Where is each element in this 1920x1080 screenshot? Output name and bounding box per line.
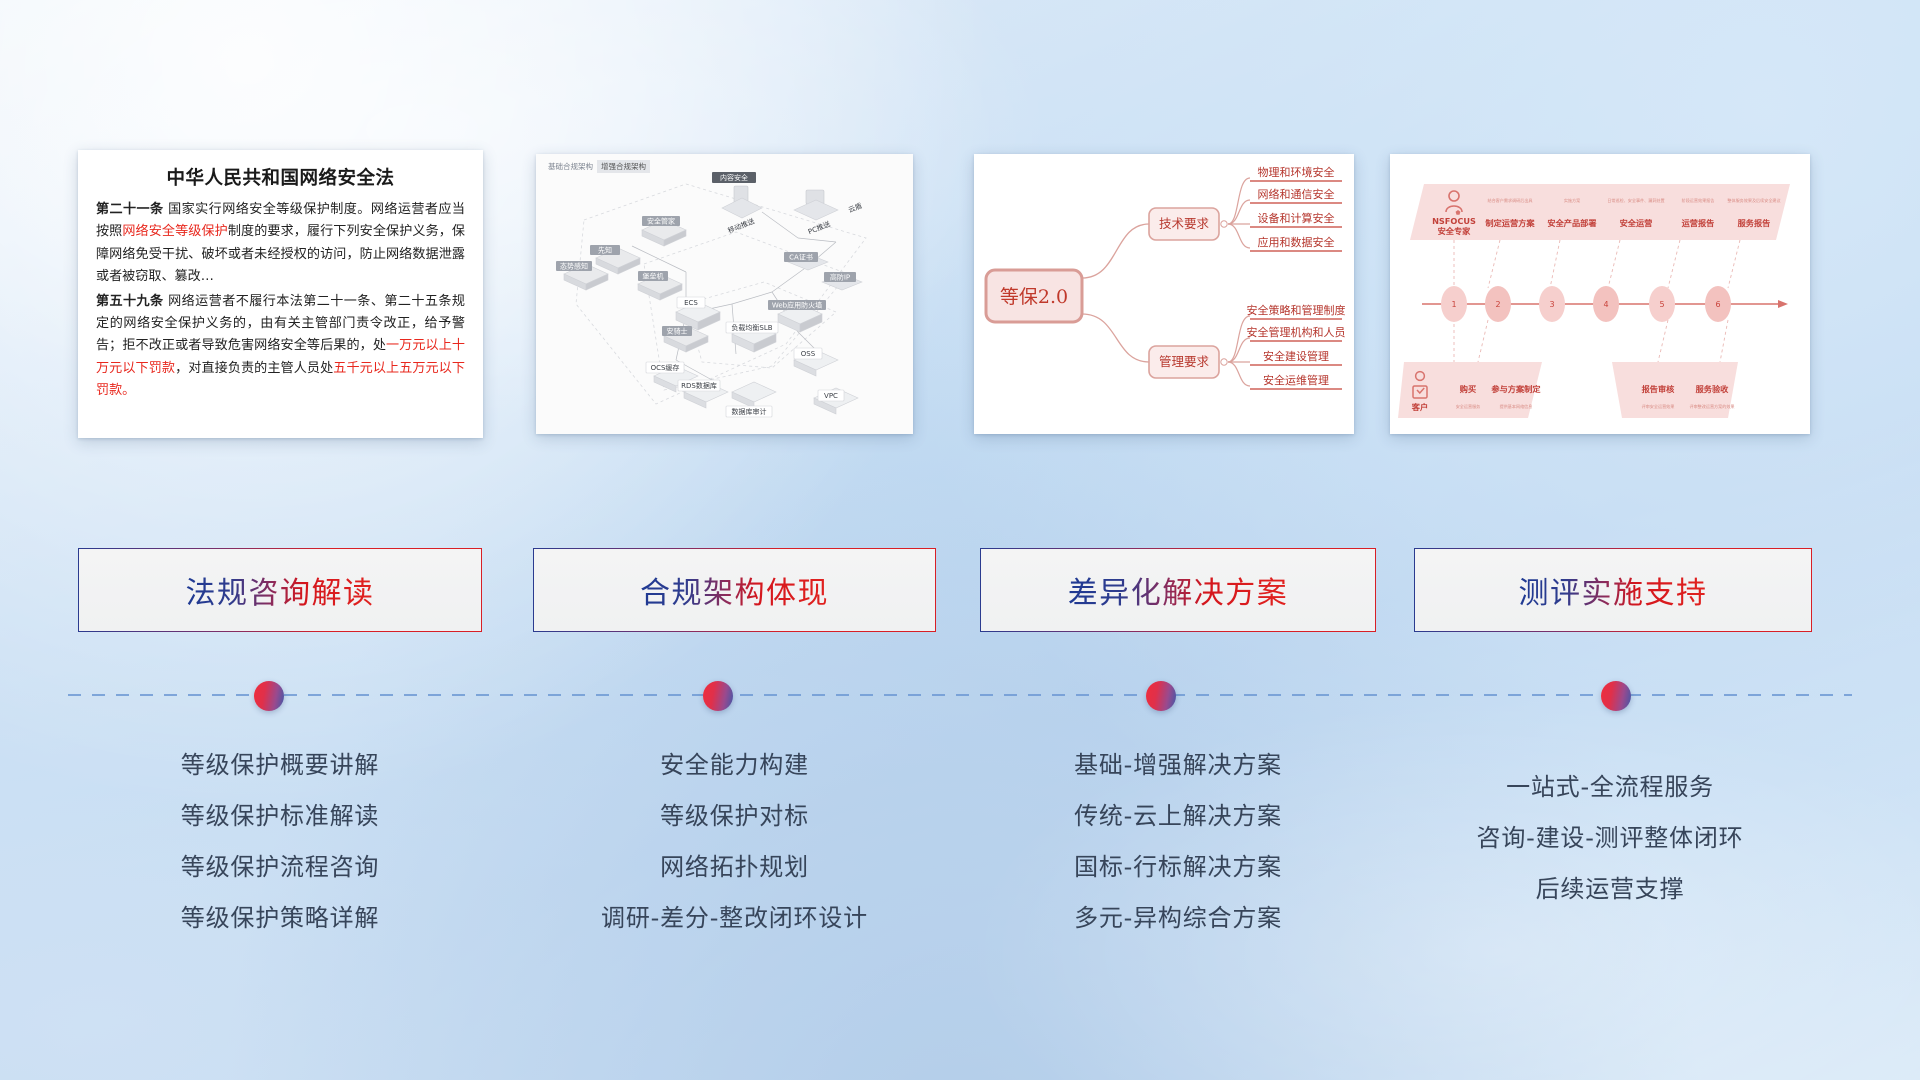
list-item: 一站式-全流程服务 bbox=[1400, 762, 1820, 813]
timeline-number-4: 4 bbox=[1603, 300, 1608, 309]
list-item: 后续运营支撑 bbox=[1400, 864, 1820, 915]
mindmap-leaf-m2: 安全管理机构和人员 bbox=[1247, 325, 1346, 339]
bottom-sub-3: 评审安全运营效果 bbox=[1642, 403, 1675, 409]
svg-text:VPC: VPC bbox=[824, 392, 838, 400]
law-article-59-label: 第五十九条 bbox=[96, 294, 164, 309]
section-items-2: 安全能力构建 等级保护对标 网络拓扑规划 调研-差分-整改闭环设计 bbox=[533, 740, 936, 944]
mindmap-leaf-t1: 物理和环境安全 bbox=[1258, 165, 1335, 179]
svg-text:安骑士: 安骑士 bbox=[667, 327, 688, 336]
timeline-number-1: 1 bbox=[1451, 300, 1456, 309]
mindmap-leaf-t2: 网络和通信安全 bbox=[1258, 187, 1335, 201]
section-title-1: 法规咨询解读 bbox=[186, 568, 375, 612]
mindmap-branch-management-label: 管理要求 bbox=[1159, 354, 1210, 369]
svg-text:态势感知: 态势感知 bbox=[560, 262, 588, 271]
top-sub-2: 实施方案 bbox=[1564, 197, 1580, 203]
svg-text:先知: 先知 bbox=[598, 246, 612, 255]
node-pc-push bbox=[794, 190, 838, 220]
timeline-dot-2[interactable] bbox=[703, 681, 733, 711]
mindmap-svg: 等保2.0 技术要求 bbox=[974, 154, 1354, 434]
card-compliance-architecture[interactable]: 基础合规架构增强合规架构 bbox=[536, 154, 913, 434]
expert-label-line2: 安全专家 bbox=[1438, 226, 1472, 236]
section-title-2: 合规架构体现 bbox=[640, 568, 829, 612]
service-timeline: NSFOCUS 安全专家 结合客户需求调研后出具 制定运营方案 实施方案 安全产… bbox=[1390, 154, 1810, 434]
timeline-dashed-axis bbox=[68, 694, 1852, 696]
svg-text:CA证书: CA证书 bbox=[789, 253, 813, 262]
bottom-title-2: 参与方案制定 bbox=[1491, 384, 1541, 394]
node-database-audit bbox=[732, 382, 776, 408]
bottom-title-1: 购买 bbox=[1459, 384, 1476, 394]
top-sub-4: 阶段运营效果报告 bbox=[1682, 197, 1715, 203]
timeline-number-6: 6 bbox=[1715, 300, 1720, 309]
top-sub-3: 日常巡检、安全事件、漏洞处置 bbox=[1607, 197, 1664, 203]
mindmap-root: 等保2.0 bbox=[986, 270, 1082, 322]
svg-text:RDS数据库: RDS数据库 bbox=[681, 381, 717, 390]
customer-label: 客户 bbox=[1411, 402, 1428, 412]
list-item: 调研-差分-整改闭环设计 bbox=[533, 893, 936, 944]
node-mobile-push bbox=[722, 186, 762, 218]
list-item: 多元-异构综合方案 bbox=[980, 893, 1376, 944]
list-item: 等级保护策略详解 bbox=[78, 893, 482, 944]
mindmap-leaf-t3: 设备和计算安全 bbox=[1258, 211, 1335, 225]
card-row: 中华人民共和国网络安全法 第二十一条 国家实行网络安全等级保护制度。网络运营者应… bbox=[0, 150, 1920, 450]
law-title: 中华人民共和国网络安全法 bbox=[96, 164, 465, 190]
section-title-row: 法规咨询解读 合规架构体现 差异化解决方案 测评实施支持 bbox=[0, 548, 1920, 634]
svg-text:安全管家: 安全管家 bbox=[647, 217, 675, 226]
bottom-sub-1: 安全运营服务 bbox=[1456, 403, 1481, 409]
bottom-sub-4: 评审整改运营方案的效果 bbox=[1689, 403, 1734, 409]
section-title-box-3[interactable]: 差异化解决方案 bbox=[980, 548, 1376, 632]
list-item: 安全能力构建 bbox=[533, 740, 936, 791]
card-cybersecurity-law[interactable]: 中华人民共和国网络安全法 第二十一条 国家实行网络安全等级保护制度。网络运营者应… bbox=[78, 150, 483, 438]
mindmap: 等保2.0 技术要求 bbox=[974, 154, 1354, 434]
top-sub-1: 结合客户需求调研后出具 bbox=[1487, 197, 1532, 203]
section-title-box-4[interactable]: 测评实施支持 bbox=[1414, 548, 1812, 632]
bottom-title-3: 报告审核 bbox=[1642, 384, 1676, 394]
mindmap-root-label: 等保2.0 bbox=[1000, 286, 1068, 308]
section-title-3: 差异化解决方案 bbox=[1068, 568, 1289, 612]
card-mindmap-dengbao[interactable]: 等保2.0 技术要求 bbox=[974, 154, 1354, 434]
top-title-3: 安全运营 bbox=[1620, 218, 1653, 228]
law-article-21-label: 第二十一条 bbox=[96, 202, 164, 217]
list-item: 网络拓扑规划 bbox=[533, 842, 936, 893]
timeline-dot-4[interactable] bbox=[1601, 681, 1631, 711]
list-item: 等级保护对标 bbox=[533, 791, 936, 842]
section-title-box-1[interactable]: 法规咨询解读 bbox=[78, 548, 482, 632]
svg-text:ECS: ECS bbox=[684, 299, 698, 307]
top-title-4: 运营报告 bbox=[1682, 218, 1715, 228]
list-item: 等级保护概要讲解 bbox=[78, 740, 482, 791]
section-items-1: 等级保护概要讲解 等级保护标准解读 等级保护流程咨询 等级保护策略详解 bbox=[78, 740, 482, 944]
section-title-4: 测评实施支持 bbox=[1519, 568, 1708, 612]
law-body: 中华人民共和国网络安全法 第二十一条 国家实行网络安全等级保护制度。网络运营者应… bbox=[78, 150, 483, 438]
svg-text:Web应用防火墙: Web应用防火墙 bbox=[772, 301, 822, 310]
service-timeline-svg: NSFOCUS 安全专家 结合客户需求调研后出具 制定运营方案 实施方案 安全产… bbox=[1390, 154, 1810, 434]
svg-text:数据库审计: 数据库审计 bbox=[732, 407, 767, 416]
section-items-3: 基础-增强解决方案 传统-云上解决方案 国标-行标解决方案 多元-异构综合方案 bbox=[980, 740, 1376, 944]
timeline-dot-3[interactable] bbox=[1146, 681, 1176, 711]
law-article-59-text-b: ，对直接负责的主管人员处 bbox=[175, 361, 333, 376]
section-item-lists: 等级保护概要讲解 等级保护标准解读 等级保护流程咨询 等级保护策略详解 安全能力… bbox=[0, 740, 1920, 1040]
top-title-1: 制定运营方案 bbox=[1485, 218, 1535, 228]
svg-text:PC推送: PC推送 bbox=[807, 219, 832, 236]
card-service-timeline[interactable]: NSFOCUS 安全专家 结合客户需求调研后出具 制定运营方案 实施方案 安全产… bbox=[1390, 154, 1810, 434]
svg-text:高防IP: 高防IP bbox=[830, 273, 850, 282]
timeline-arrow bbox=[1778, 300, 1788, 308]
mindmap-branch-management: 管理要求 bbox=[1149, 303, 1346, 389]
mindmap-leaf-m4: 安全运维管理 bbox=[1263, 373, 1329, 387]
timeline-number-3: 3 bbox=[1549, 300, 1554, 309]
list-item: 等级保护流程咨询 bbox=[78, 842, 482, 893]
expert-label-line1: NSFOCUS bbox=[1432, 216, 1476, 226]
mindmap-branch-technical: 技术要求 bbox=[1149, 165, 1342, 251]
bottom-title-4: 服务验收 bbox=[1696, 384, 1730, 394]
law-article-59: 第五十九条 网络运营者不履行本法第二十一条、第二十五条规定的网络安全保护义务的，… bbox=[96, 291, 465, 403]
law-article-21-highlight: 网络安全等级保护 bbox=[122, 224, 227, 239]
list-item: 国标-行标解决方案 bbox=[980, 842, 1376, 893]
section-items-4: 一站式-全流程服务 咨询-建设-测评整体闭环 后续运营支撑 bbox=[1400, 762, 1820, 915]
svg-text:OSS: OSS bbox=[801, 350, 816, 358]
svg-text:堡垒机: 堡垒机 bbox=[643, 272, 664, 281]
bottom-sub-2: 提供基本网络信息 bbox=[1500, 403, 1533, 409]
svg-text:内容安全: 内容安全 bbox=[720, 173, 748, 182]
list-item: 传统-云上解决方案 bbox=[980, 791, 1376, 842]
mindmap-leaf-m3: 安全建设管理 bbox=[1263, 349, 1329, 363]
list-item: 等级保护标准解读 bbox=[78, 791, 482, 842]
timeline-number-2: 2 bbox=[1495, 300, 1500, 309]
architecture-svg: 态势感知 先知 安全管家 堡垒机 ECS 安骑士 OCS缓存 bbox=[536, 154, 913, 434]
mindmap-branch-technical-label: 技术要求 bbox=[1159, 216, 1210, 231]
top-title-2: 安全产品部署 bbox=[1547, 218, 1596, 228]
list-item: 咨询-建设-测评整体闭环 bbox=[1400, 813, 1820, 864]
timeline-number-5: 5 bbox=[1659, 300, 1664, 309]
list-item: 基础-增强解决方案 bbox=[980, 740, 1376, 791]
svg-text:OCS缓存: OCS缓存 bbox=[651, 363, 680, 372]
svg-text:移动推送: 移动推送 bbox=[726, 216, 755, 235]
timeline-dot-1[interactable] bbox=[254, 681, 284, 711]
section-title-box-2[interactable]: 合规架构体现 bbox=[533, 548, 936, 632]
svg-text:云盾: 云盾 bbox=[847, 202, 863, 215]
architecture-diagram: 基础合规架构增强合规架构 bbox=[536, 154, 913, 434]
top-sub-5: 整体服务效果及后续安全建议 bbox=[1727, 197, 1780, 203]
mindmap-leaf-t4: 应用和数据安全 bbox=[1258, 235, 1335, 249]
svg-text:负载均衡SLB: 负载均衡SLB bbox=[731, 323, 772, 332]
mindmap-leaf-m1: 安全策略和管理制度 bbox=[1247, 303, 1346, 317]
slide-canvas: 中华人民共和国网络安全法 第二十一条 国家实行网络安全等级保护制度。网络运营者应… bbox=[0, 0, 1920, 1080]
law-article-21: 第二十一条 国家实行网络安全等级保护制度。网络运营者应当按照网络安全等级保护制度… bbox=[96, 199, 465, 289]
top-title-5: 服务报告 bbox=[1738, 218, 1771, 228]
